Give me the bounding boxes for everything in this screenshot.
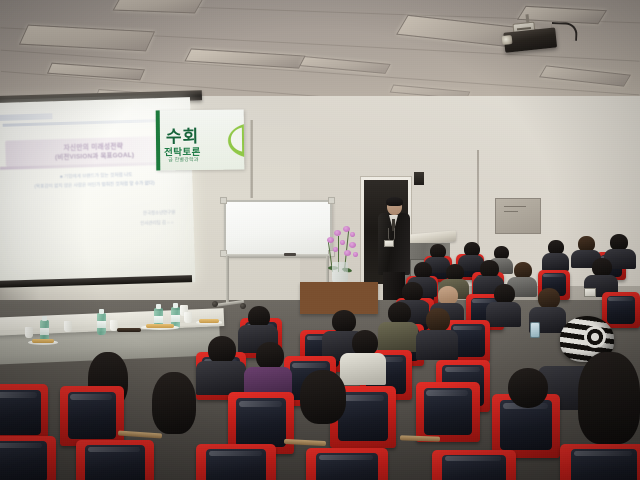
wooden-side-table [300, 282, 378, 314]
snack-food [117, 328, 141, 332]
auditorium-seat [0, 436, 56, 480]
auditorium-seat [560, 444, 640, 480]
snack-food [199, 319, 219, 323]
water-bottle [97, 313, 106, 335]
slide-credit-line1: 한국청소년연구원 [143, 210, 175, 217]
paper-cup [184, 312, 192, 323]
ceiling-projector [498, 19, 563, 57]
auditorium-seat [432, 450, 516, 480]
ceiling-light-fixture [184, 48, 305, 68]
lecture-hall-photo: 한국청소년연구원 자신만의 미래성전략 (비전VISION과 목표GOAL) ■… [0, 0, 640, 480]
presenter-name-badge [384, 240, 394, 247]
slide-header-bar [0, 113, 53, 121]
presenter-hair [386, 197, 403, 206]
banner-hanging-pole [250, 120, 253, 198]
whiteboard-caster [212, 301, 218, 307]
paper-cup [25, 327, 33, 338]
paper-cup [64, 321, 72, 332]
green-event-banner: 수회 전탁토론 금 한별강학과 [156, 110, 245, 171]
auditorium-seat [76, 440, 154, 480]
wall-access-panel [495, 198, 541, 234]
mobile-phone [530, 322, 540, 338]
auditorium-seat [306, 448, 388, 480]
projector-lens [502, 35, 513, 45]
ceiling-light-fixture [19, 25, 155, 52]
snack-food [146, 324, 174, 328]
auditorium-seat [602, 292, 640, 328]
ceiling-light-fixture [539, 65, 631, 86]
ceiling-light-fixture [113, 0, 208, 13]
banner-title-small: 금 한별강학과 [168, 156, 198, 163]
whiteboard-marker [284, 253, 296, 256]
slide-body-line2: (목표감이 없지 않은 사람은 어딘가 멈춰진 것처럼 앞 수가 없다) [8, 180, 180, 191]
auditorium-seat [0, 384, 48, 442]
snack-food [32, 339, 54, 343]
auditorium-seat [416, 382, 480, 442]
whiteboard-caster [240, 303, 246, 309]
whiteboard-leg [226, 256, 229, 304]
auditorium-seat [196, 444, 276, 480]
door-sign [414, 172, 424, 185]
beanie-swirl-pattern [584, 326, 606, 348]
slide-credit-line2: 인사관리팀 김 ○ ○ [140, 220, 173, 227]
attendee-name-badge [584, 288, 596, 297]
auditorium-seat [60, 386, 124, 446]
whiteboard-tray [226, 254, 330, 258]
banner-swoosh-inner [208, 120, 242, 160]
orchid-vase [332, 262, 348, 284]
